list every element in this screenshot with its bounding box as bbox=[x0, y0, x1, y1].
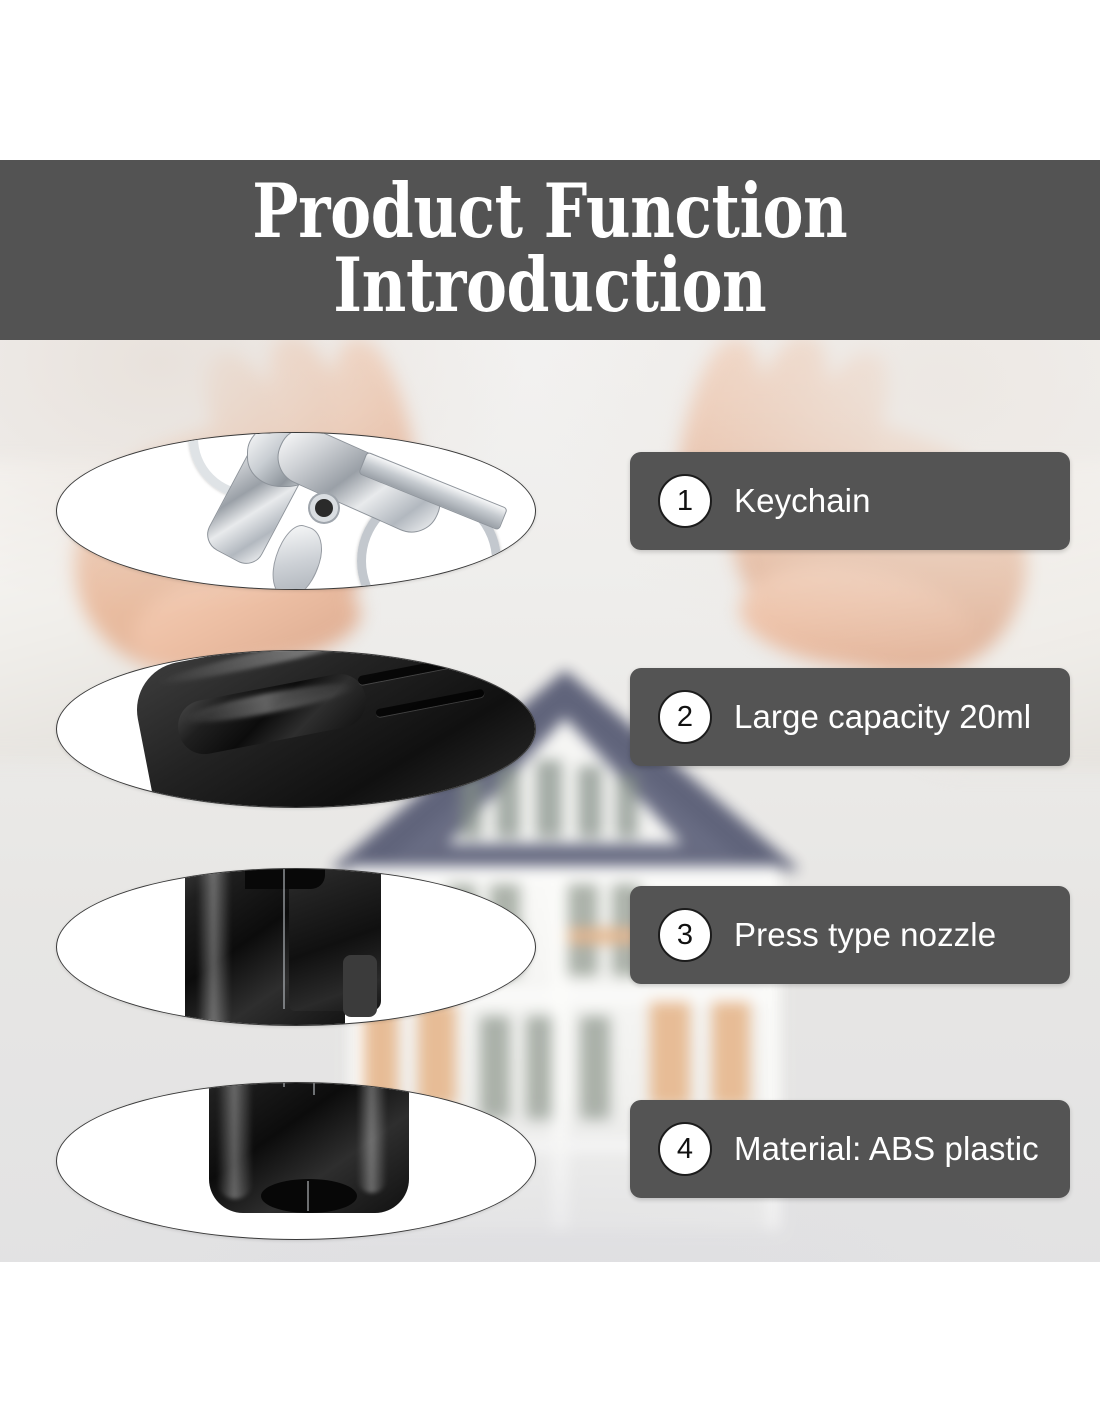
feature-label-1: Keychain bbox=[734, 482, 871, 520]
nozzle-highlight bbox=[197, 868, 231, 1026]
press-nozzle-photo bbox=[57, 869, 535, 1025]
abs-plastic-base-photo bbox=[57, 1083, 535, 1239]
feature-image-oval-4 bbox=[56, 1082, 536, 1240]
feature-label-3: Press type nozzle bbox=[734, 916, 996, 954]
feature-image-oval-2 bbox=[56, 650, 536, 808]
infographic-page: Product Function Introduction bbox=[0, 0, 1100, 1422]
abs-left-highlight bbox=[217, 1082, 253, 1199]
nozzle-seam bbox=[283, 868, 285, 1009]
abs-base-shadow bbox=[261, 1179, 357, 1213]
feature-label-4: Material: ABS plastic bbox=[734, 1130, 1039, 1168]
nozzle-notch-cut bbox=[245, 868, 325, 889]
title-banner: Product Function Introduction bbox=[0, 160, 1100, 340]
feature-number-badge-1: 1 bbox=[658, 474, 712, 528]
abs-base-seam bbox=[307, 1181, 309, 1211]
feature-label-2: Large capacity 20ml bbox=[734, 698, 1031, 736]
clasp-pivot-hole bbox=[315, 499, 333, 517]
feature-pill-2[interactable]: 2 Large capacity 20ml bbox=[630, 668, 1070, 766]
feature-pill-3[interactable]: 3 Press type nozzle bbox=[630, 886, 1070, 984]
keychain-clasp-photo bbox=[57, 433, 535, 589]
feature-pill-4[interactable]: 4 Material: ABS plastic bbox=[630, 1100, 1070, 1198]
feature-number-badge-3: 3 bbox=[658, 908, 712, 962]
abs-seam bbox=[313, 1082, 315, 1095]
abs-seam bbox=[283, 1082, 285, 1087]
feature-image-oval-1 bbox=[56, 432, 536, 590]
nozzle-collar bbox=[343, 955, 377, 1017]
page-title: Product Function Introduction bbox=[252, 174, 847, 327]
feature-pill-1[interactable]: 1 Keychain bbox=[630, 452, 1070, 550]
feature-number-badge-4: 4 bbox=[658, 1122, 712, 1176]
feature-number-badge-2: 2 bbox=[658, 690, 712, 744]
bottle-body-photo bbox=[57, 651, 535, 807]
abs-right-highlight bbox=[357, 1082, 387, 1193]
feature-image-oval-3 bbox=[56, 868, 536, 1026]
